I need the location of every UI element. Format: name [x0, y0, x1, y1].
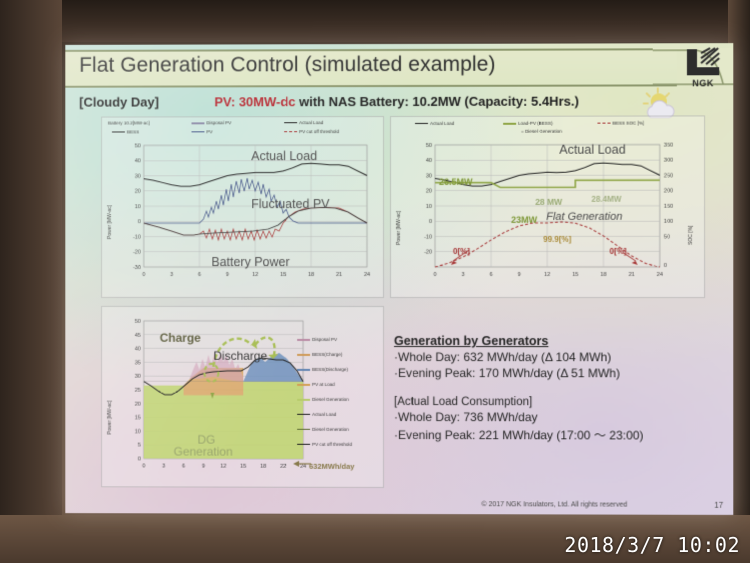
chart-bl-legend-diesel-generation-area: Diesel Generation: [297, 397, 349, 402]
chart-bl-legend-bess-charge: BESS(Charge): [297, 352, 342, 357]
chart-bl-annotation-charge: Charge: [160, 331, 201, 345]
chart-bl-legend-pv-cutoff: PV cut off threshold: [297, 442, 352, 447]
photograph-of-projected-slide: Flat Generation Control (simulated examp…: [0, 0, 750, 563]
chart-tl-legend-bess: BESS: [112, 129, 139, 134]
page-title: Flat Generation Control (simulated examp…: [79, 53, 495, 78]
chart-panel-top-left: Battery 10.2[MW-ac] BESS Disposal PV PV …: [101, 116, 384, 298]
chart-tl-annotation-battery-power: Battery Power: [211, 255, 289, 269]
chart-bl-ylabel: Power [MW-ac]: [107, 400, 113, 434]
svg-text:18: 18: [308, 272, 314, 278]
legend-swatch-actual-load: [284, 122, 297, 123]
chart-bl-legend-bess-discharge: BESS(Discharge): [297, 367, 348, 372]
chart-tl-ylabel: Power [MW-ac]: [107, 205, 113, 239]
svg-text:24: 24: [364, 272, 370, 278]
svg-text:40: 40: [135, 158, 141, 164]
svg-text:0: 0: [142, 463, 145, 469]
legend-swatch-pv: [192, 132, 205, 133]
slide-page-number: 17: [714, 501, 723, 510]
legend-swatch-diesel-generation-area: [297, 399, 310, 401]
headline-battery-spec: with NAS Battery: 10.2MW (Capacity: 5.4H…: [296, 94, 579, 110]
chart-panel-bottom-left: Power [MW-ac]: [101, 306, 384, 488]
svg-text:15: 15: [135, 415, 141, 421]
legend-swatch-disposal-pv: [192, 122, 205, 124]
chart-bl-legend-diesel-generation-line: Diesel Generation: [297, 427, 349, 432]
consumption-whole-day: ·Whole Day: 736 MWh/day: [394, 410, 715, 425]
svg-text:0: 0: [138, 219, 141, 225]
svg-text:3: 3: [170, 272, 173, 278]
generation-evening-peak: ·Evening Peak: 170 MWh/day (Δ 51 MWh): [394, 366, 715, 380]
svg-text:15: 15: [240, 464, 246, 470]
svg-text:22: 22: [280, 464, 286, 470]
svg-text:9: 9: [226, 272, 229, 278]
headline-pv-value: PV: 30MW-dc: [214, 94, 295, 109]
legend-swatch-pv-cutoff: [297, 444, 310, 445]
svg-text:20: 20: [135, 401, 141, 407]
svg-text:50: 50: [135, 143, 141, 149]
svg-text:9: 9: [202, 464, 205, 470]
legend-swatch-threshold: [284, 131, 297, 132]
svg-text:10: 10: [135, 429, 141, 435]
consumption-heading: [Actual Load Consumption]: [394, 396, 715, 408]
chart-tl-title: Battery 10.2[MW-ac]: [108, 120, 150, 125]
chart-tl-legend-threshold: PV cut off threshold: [284, 129, 339, 134]
svg-text:6: 6: [182, 464, 185, 470]
chart-tr-annotation-leaders: [391, 116, 704, 297]
chart-tl-legend-actual-load: Actual Load: [284, 120, 323, 125]
consumption-evening-peak: ·Evening Peak: 221 MWh/day (17:00 ～ 23:0…: [394, 426, 715, 444]
chart-tl-legend-pv: PV: [192, 129, 213, 134]
chart-tl-annotation-fluctuated-pv: Fluctuated PV: [251, 197, 329, 211]
svg-text:3: 3: [162, 463, 165, 469]
chart-bl-legend-disposal-pv: Disposal PV: [297, 337, 337, 342]
presentation-slide: Flat Generation Control (simulated examp…: [65, 43, 733, 515]
ngk-logo-text: NGK: [679, 78, 727, 88]
svg-text:25: 25: [135, 388, 141, 394]
svg-text:6: 6: [198, 272, 201, 278]
chart-bl-legend-pv-at-load: PV at Load: [297, 382, 335, 387]
svg-text:5: 5: [138, 443, 141, 449]
svg-text:15: 15: [280, 272, 286, 278]
legend-swatch-actual-load: [297, 414, 310, 415]
svg-text:35: 35: [135, 360, 141, 366]
generation-whole-day: ·Whole Day: 632 MWh/day (Δ 104 MWh): [394, 350, 715, 364]
room-wall-left: [0, 0, 62, 563]
chart-tl-legend-disposal-pv: Disposal PV: [192, 120, 232, 125]
svg-text:-10: -10: [133, 235, 141, 241]
svg-text:10: 10: [135, 204, 141, 210]
svg-text:21: 21: [336, 272, 342, 278]
svg-text:20: 20: [135, 189, 141, 195]
chart-bl-legend-actual-load: Actual Load: [297, 412, 336, 417]
chart-tl-annotation-actual-load: Actual Load: [251, 149, 317, 163]
svg-text:18: 18: [260, 464, 266, 470]
svg-text:-20: -20: [133, 250, 141, 256]
svg-text:0: 0: [142, 272, 145, 278]
svg-text:30: 30: [135, 374, 141, 380]
legend-swatch-pv-at-load: [297, 384, 310, 386]
legend-swatch-bess: [112, 132, 125, 133]
chart-panel-top-right: Actual Load Load-PV (BESS) BESS SOC [%] …: [390, 115, 705, 298]
legend-swatch-bess-charge: [297, 354, 310, 356]
svg-text:-30: -30: [133, 265, 141, 271]
chart-bl-annotation-discharge: Discharge: [213, 349, 267, 363]
svg-text:12: 12: [220, 464, 226, 470]
room-wall-top: [0, 0, 750, 42]
svg-text:0: 0: [138, 456, 141, 462]
summary-text-block: Generation by Generators ·Whole Day: 632…: [394, 334, 715, 444]
svg-text:30: 30: [135, 174, 141, 180]
generation-heading: Generation by Generators: [394, 334, 715, 348]
svg-text:45: 45: [135, 333, 141, 339]
headline-spec: PV: 30MW-dc with NAS Battery: 10.2MW (Ca…: [214, 94, 579, 110]
svg-text:50: 50: [135, 319, 141, 325]
condition-label: [Cloudy Day]: [79, 95, 159, 110]
svg-text:40: 40: [135, 346, 141, 352]
copyright-footer: © 2017 NGK Insulators, Ltd. All rights r…: [394, 501, 715, 509]
ngk-logo-icon: [685, 47, 721, 77]
chart-bl-annotation-632mwh: 632MWh/day: [309, 462, 354, 471]
svg-text:12: 12: [252, 272, 258, 278]
chart-bl-annotation-generation: Generation: [174, 445, 233, 459]
ngk-logo: NGK: [679, 47, 727, 93]
legend-swatch-disposal-pv: [297, 339, 310, 341]
camera-timestamp: 2018/3/7 10:02: [564, 533, 740, 557]
chart-bl-arrow-icon: [291, 457, 313, 471]
legend-swatch-diesel-generation-line: [297, 429, 310, 430]
legend-swatch-bess-discharge: [297, 369, 310, 371]
